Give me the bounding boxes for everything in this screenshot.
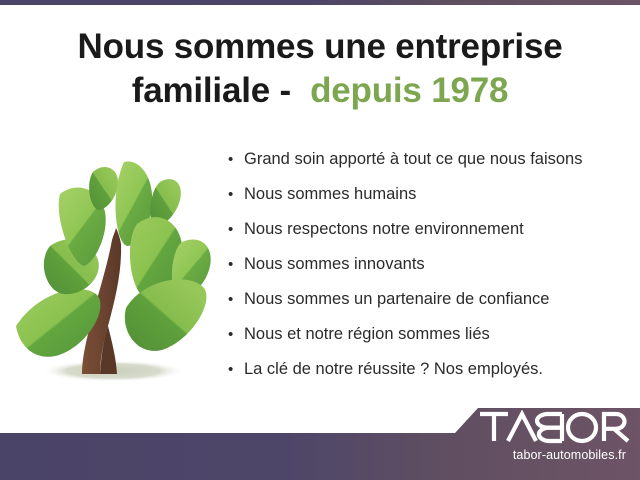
bullet-icon: • bbox=[228, 219, 244, 241]
list-item-label: Nous et notre région sommes liés bbox=[244, 323, 490, 345]
tree-illustration bbox=[8, 150, 223, 390]
list-item-label: Nous sommes innovants bbox=[244, 253, 425, 275]
bullet-icon: • bbox=[228, 254, 244, 276]
tabor-wordmark bbox=[478, 410, 630, 444]
list-item: • Nous sommes un partenaire de confiance bbox=[228, 288, 628, 323]
bullet-icon: • bbox=[228, 359, 244, 381]
page-title-line-2: familiale - depuis 1978 bbox=[30, 69, 610, 113]
page-title-dash-glyph: - bbox=[280, 71, 291, 110]
page-title-familiale: familiale bbox=[132, 71, 270, 110]
page-title: Nous sommes une entreprise familiale - d… bbox=[30, 25, 610, 113]
tree-leaf bbox=[125, 279, 207, 351]
logo-tagline: tabor-automobiles.fr bbox=[478, 448, 626, 462]
page-title-since-year: depuis 1978 bbox=[310, 71, 508, 110]
list-item-label: Nous respectons notre environnement bbox=[244, 218, 524, 240]
list-item-label: La clé de notre réussite ? Nos employés. bbox=[244, 358, 543, 380]
list-item: • Nous sommes humains bbox=[228, 183, 628, 218]
bullet-icon: • bbox=[228, 324, 244, 346]
list-item: • La clé de notre réussite ? Nos employé… bbox=[228, 358, 628, 393]
list-item-label: Grand soin apporté à tout ce que nous fa… bbox=[244, 148, 582, 170]
list-item: • Nous respectons notre environnement bbox=[228, 218, 628, 253]
list-item: • Nous sommes innovants bbox=[228, 253, 628, 288]
list-item: • Nous et notre région sommes liés bbox=[228, 323, 628, 358]
tree-illustration-svg bbox=[8, 150, 223, 390]
bullet-icon: • bbox=[228, 184, 244, 206]
bullet-icon: • bbox=[228, 149, 244, 171]
benefits-list: • Grand soin apporté à tout ce que nous … bbox=[228, 148, 628, 393]
slide-canvas: Nous sommes une entreprise familiale - d… bbox=[0, 0, 640, 480]
list-item-label: Nous sommes un partenaire de confiance bbox=[244, 288, 549, 310]
page-title-line-1: Nous sommes une entreprise bbox=[30, 25, 610, 69]
bullet-icon: • bbox=[228, 289, 244, 311]
list-item: • Grand soin apporté à tout ce que nous … bbox=[228, 148, 628, 183]
tabor-logo[interactable]: tabor-automobiles.fr bbox=[478, 410, 630, 472]
page-title-dash bbox=[270, 71, 280, 110]
tree-leaf bbox=[89, 167, 118, 210]
top-accent-bar bbox=[0, 0, 640, 5]
list-item-label: Nous sommes humains bbox=[244, 183, 416, 205]
